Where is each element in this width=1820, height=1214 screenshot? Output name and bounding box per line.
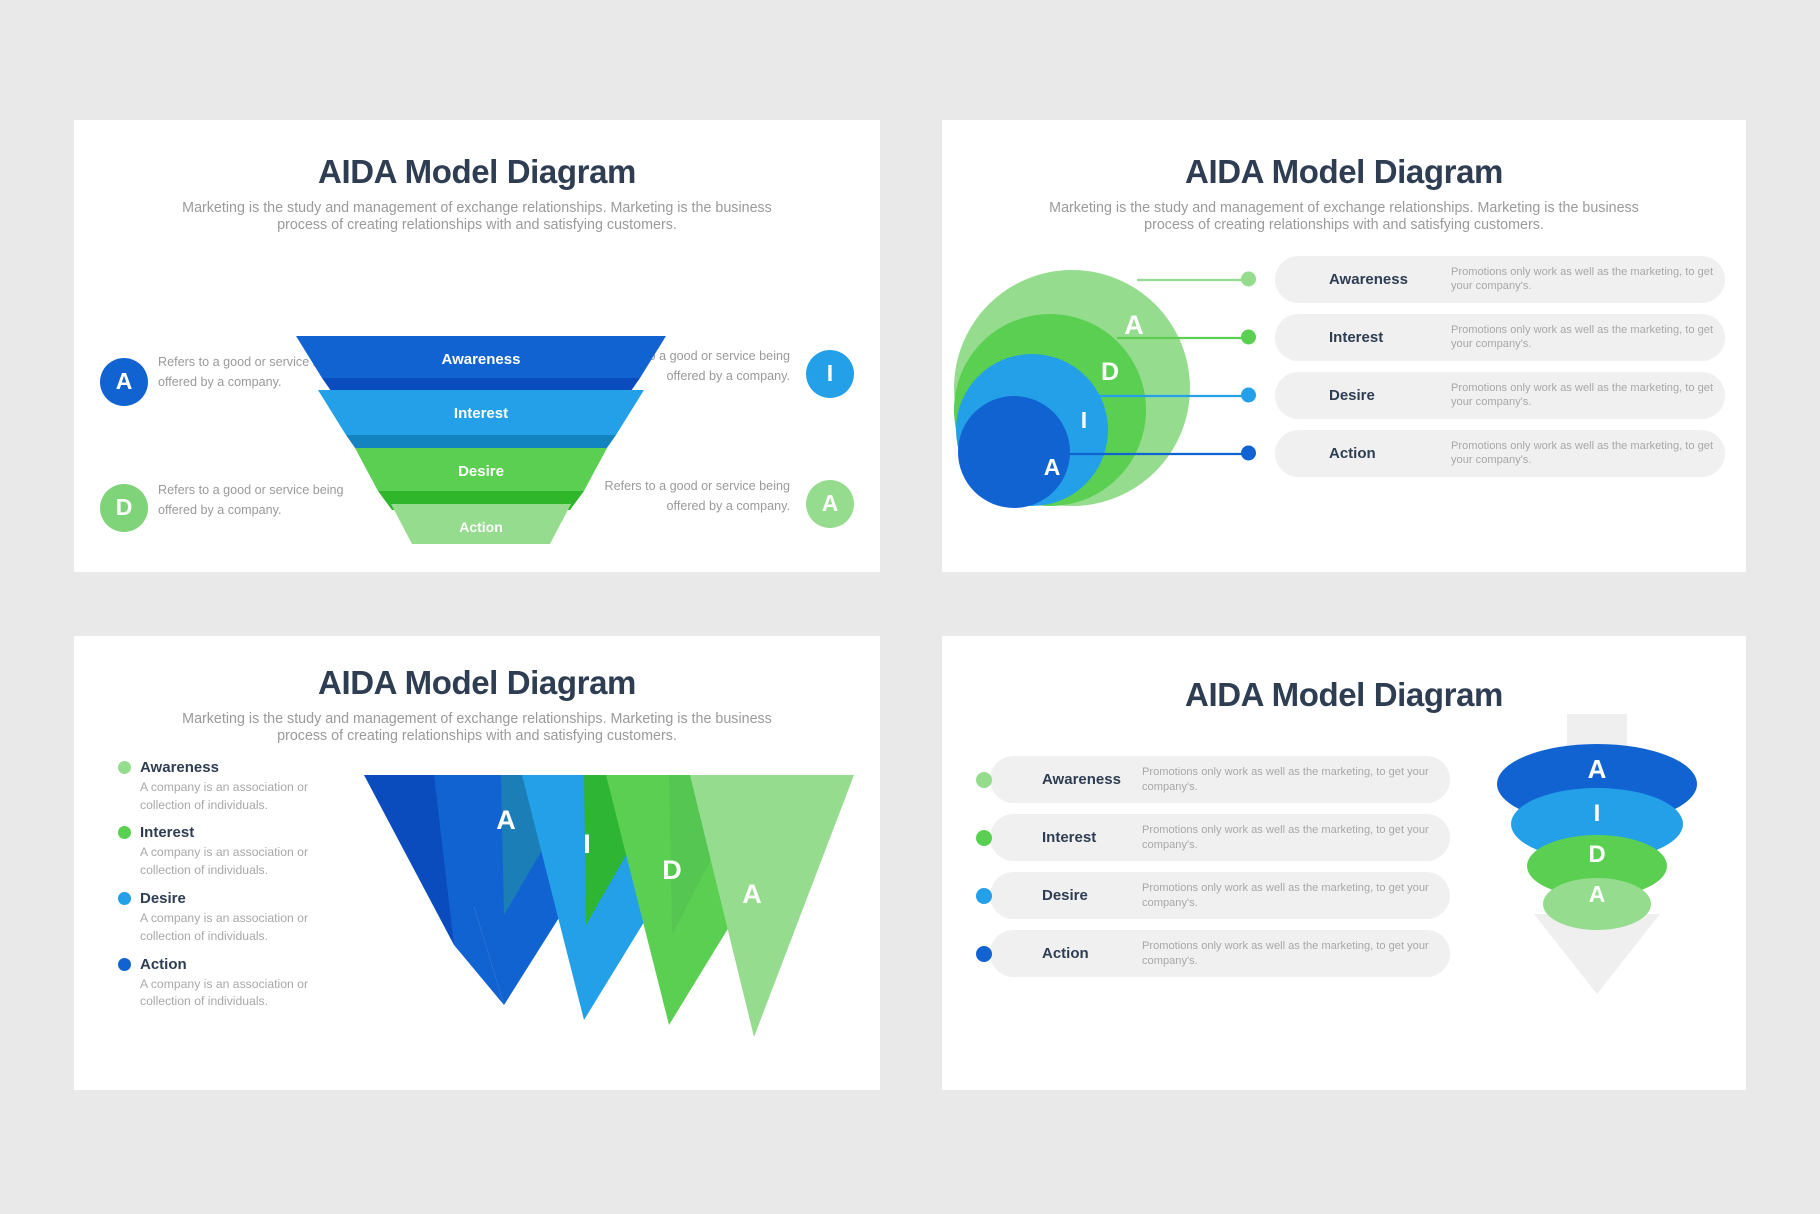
badge-letter: A — [822, 490, 839, 517]
page-title: AIDA Model Diagram — [942, 153, 1746, 191]
status-dot — [976, 830, 992, 846]
status-dot — [976, 772, 992, 788]
funnel-label-interest: Interest — [454, 405, 508, 422]
panel4-body: Awareness Promotions only work as well a… — [942, 756, 1746, 1056]
status-dot — [118, 892, 131, 905]
funnel-letter-a1: A — [1588, 754, 1607, 784]
row-desc: Promotions only work as well as the mark… — [1142, 939, 1450, 968]
triangle-letter-a2: A — [742, 879, 762, 909]
row-desc: Promotions only work as well as the mark… — [1142, 881, 1450, 910]
status-dot — [118, 761, 131, 774]
ellipse-funnel-diagram: A I D A — [1472, 714, 1722, 1004]
list-item[interactable]: Awareness Promotions only work as well a… — [990, 756, 1450, 803]
row-desc: Promotions only work as well as the mark… — [1451, 323, 1725, 352]
row-desc: Promotions only work as well as the mark… — [1142, 823, 1450, 852]
status-dot — [1241, 446, 1256, 461]
list-item[interactable]: Action Promotions only work as well as t… — [1275, 430, 1725, 477]
row-label: Awareness — [1329, 271, 1451, 288]
status-dot — [1241, 330, 1256, 345]
list-item[interactable]: Desire Promotions only work as well as t… — [1275, 372, 1725, 419]
panel2-row-list: Awareness Promotions only work as well a… — [1275, 256, 1725, 488]
list-item[interactable]: Interest Promotions only work as well as… — [1275, 314, 1725, 361]
row-label: Interest — [1042, 829, 1142, 846]
funnel-diagram: Awareness Interest Desire Action — [296, 336, 666, 554]
badge-interest[interactable]: I — [806, 350, 854, 398]
status-dot — [1241, 272, 1256, 287]
row-label: Action — [1329, 445, 1451, 462]
page-title: AIDA Model Diagram — [74, 664, 880, 702]
status-dot — [976, 946, 992, 962]
row-desc: Promotions only work as well as the mark… — [1451, 265, 1725, 294]
legend-label: Interest — [140, 824, 194, 841]
circle-letter-a-outer: A — [1124, 310, 1144, 340]
badge-action[interactable]: A — [806, 480, 854, 528]
panel-nested-circles: AIDA Model Diagram Marketing is the stud… — [942, 120, 1746, 572]
legend-label: Desire — [140, 890, 186, 907]
page-subtitle: Marketing is the study and management of… — [172, 711, 782, 745]
panel2-body: A D I A Awareness Promotions only work a… — [942, 252, 1746, 514]
panel-cascading-triangles: AIDA Model Diagram Marketing is the stud… — [74, 636, 880, 1090]
triangle-letter-a1: A — [496, 805, 516, 835]
list-item[interactable]: Interest Promotions only work as well as… — [990, 814, 1450, 861]
panel-ellipse-funnel: AIDA Model Diagram Awareness Promotions … — [942, 636, 1746, 1090]
status-dot — [1241, 388, 1256, 403]
list-item[interactable]: Action Promotions only work as well as t… — [990, 930, 1450, 977]
funnel-letter-a2: A — [1589, 881, 1606, 907]
funnel-label-desire: Desire — [458, 463, 504, 480]
row-label: Desire — [1329, 387, 1451, 404]
row-desc: Promotions only work as well as the mark… — [1451, 381, 1725, 410]
triangle-letter-i: I — [583, 829, 591, 859]
circle-action[interactable] — [958, 396, 1070, 508]
row-label: Interest — [1329, 329, 1451, 346]
row-label: Desire — [1042, 887, 1142, 904]
panel1-body: A Refers to a good or service being offe… — [74, 248, 880, 518]
row-label: Action — [1042, 945, 1142, 962]
list-item[interactable]: Desire Promotions only work as well as t… — [990, 872, 1450, 919]
circle-letter-a-inner: A — [1044, 454, 1061, 480]
list-item[interactable]: Awareness Promotions only work as well a… — [1275, 256, 1725, 303]
circle-letter-i: I — [1081, 407, 1087, 433]
row-desc: Promotions only work as well as the mark… — [1451, 439, 1725, 468]
legend-label: Awareness — [140, 759, 219, 776]
nested-circles-diagram: A D I A — [912, 252, 1242, 514]
badge-letter: D — [116, 494, 133, 521]
status-dot — [118, 958, 131, 971]
funnel-label-awareness: Awareness — [442, 351, 521, 368]
triangle-letter-d: D — [662, 855, 682, 885]
page-subtitle: Marketing is the study and management of… — [1039, 200, 1649, 234]
page-title: AIDA Model Diagram — [942, 676, 1746, 714]
panel3-body: Awareness A company is an association or… — [74, 759, 880, 1049]
funnel-label-action: Action — [459, 519, 503, 535]
status-dot — [976, 888, 992, 904]
status-dot — [118, 826, 131, 839]
legend-label: Action — [140, 956, 187, 973]
row-label: Awareness — [1042, 771, 1142, 788]
row-desc: Promotions only work as well as the mark… — [1142, 765, 1450, 794]
panel-funnel-bands: AIDA Model Diagram Marketing is the stud… — [74, 120, 880, 572]
funnel-letter-d: D — [1588, 841, 1605, 868]
badge-letter: A — [116, 368, 133, 395]
triangle-cascade-diagram: A I D A — [254, 775, 854, 1045]
badge-letter: I — [827, 360, 833, 387]
page-title: AIDA Model Diagram — [74, 153, 880, 191]
panel4-row-list: Awareness Promotions only work as well a… — [990, 756, 1450, 988]
badge-awareness[interactable]: A — [100, 358, 148, 406]
funnel-letter-i: I — [1594, 800, 1601, 827]
circle-letter-d: D — [1101, 358, 1119, 386]
infographic-canvas: AIDA Model Diagram Marketing is the stud… — [0, 0, 1820, 1214]
page-subtitle: Marketing is the study and management of… — [172, 200, 782, 234]
badge-desire[interactable]: D — [100, 484, 148, 532]
